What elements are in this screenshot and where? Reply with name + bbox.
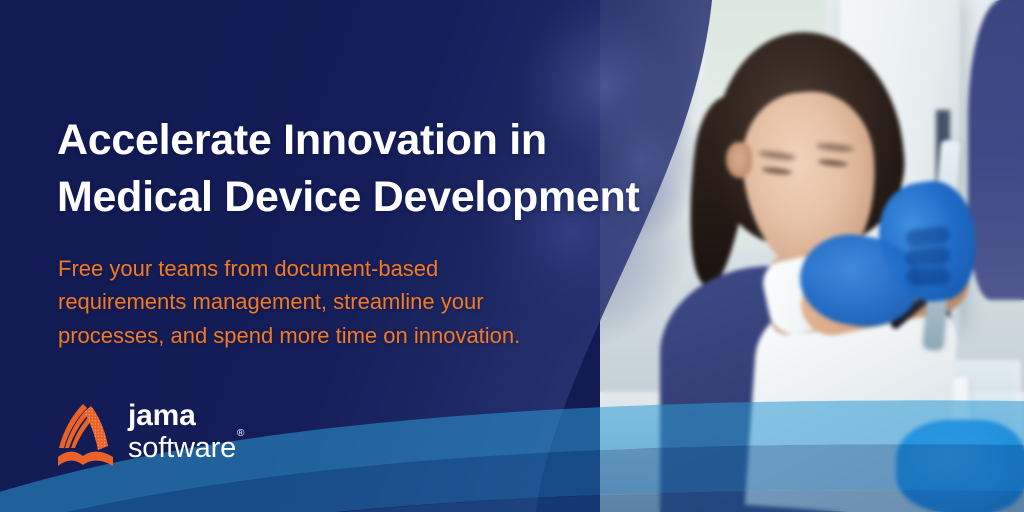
marketing-banner: Accelerate Innovation in Medical Device … [0, 0, 1024, 512]
headline-line-1: Accelerate Innovation in [57, 112, 717, 169]
logo-name-top: jama [128, 401, 243, 431]
page-title: Accelerate Innovation in Medical Device … [57, 112, 717, 226]
subhead-line-3: processes, and spend more time on innova… [58, 319, 638, 352]
photo-right-band [968, 0, 1024, 300]
subhead-line-2: requirements management, streamline your [58, 285, 638, 318]
logo-software-text: software [128, 432, 236, 464]
logo-name-bottom: software® [128, 434, 243, 463]
glove-finger [905, 246, 950, 266]
glove-finger [906, 267, 951, 286]
headline-line-2: Medical Device Development [57, 169, 717, 226]
jama-layered-peak-mark [57, 398, 115, 466]
blue-liquid-blob [896, 420, 1024, 512]
jama-software-logo[interactable]: jama software® [57, 398, 243, 466]
content-area: Accelerate Innovation in Medical Device … [57, 0, 717, 512]
photo-ear [726, 142, 752, 178]
subheadline: Free your teams from document-based requ… [58, 252, 638, 352]
subhead-line-1: Free your teams from document-based [58, 252, 638, 285]
registered-trademark-icon: ® [237, 428, 244, 439]
logo-wordmark: jama software® [128, 401, 243, 463]
